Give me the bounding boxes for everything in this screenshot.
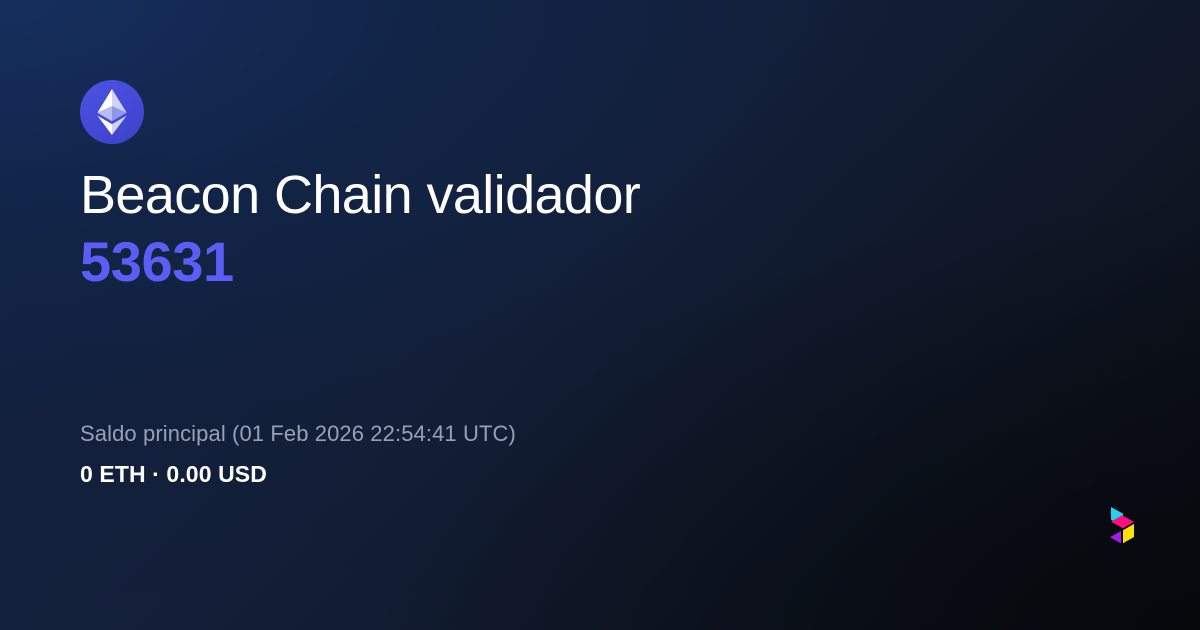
balance-block: Saldo principal (01 Feb 2026 22:54:41 UT… bbox=[80, 419, 1120, 490]
page-title: Beacon Chain validador bbox=[80, 166, 1120, 224]
layout-spacer bbox=[80, 293, 1120, 420]
beaconcha-in-logo-icon bbox=[1104, 504, 1138, 556]
balance-value: 0 ETH · 0.00 USD bbox=[80, 460, 1120, 490]
brand-logo bbox=[1104, 504, 1138, 556]
ethereum-icon bbox=[96, 88, 128, 136]
card-content: Beacon Chain validador 53631 Saldo princ… bbox=[0, 0, 1200, 630]
headline: Beacon Chain validador 53631 bbox=[80, 166, 1120, 293]
og-card: Beacon Chain validador 53631 Saldo princ… bbox=[0, 0, 1200, 630]
chain-avatar bbox=[80, 80, 144, 144]
balance-label: Saldo principal (01 Feb 2026 22:54:41 UT… bbox=[80, 419, 1120, 449]
validator-index: 53631 bbox=[80, 232, 1120, 292]
